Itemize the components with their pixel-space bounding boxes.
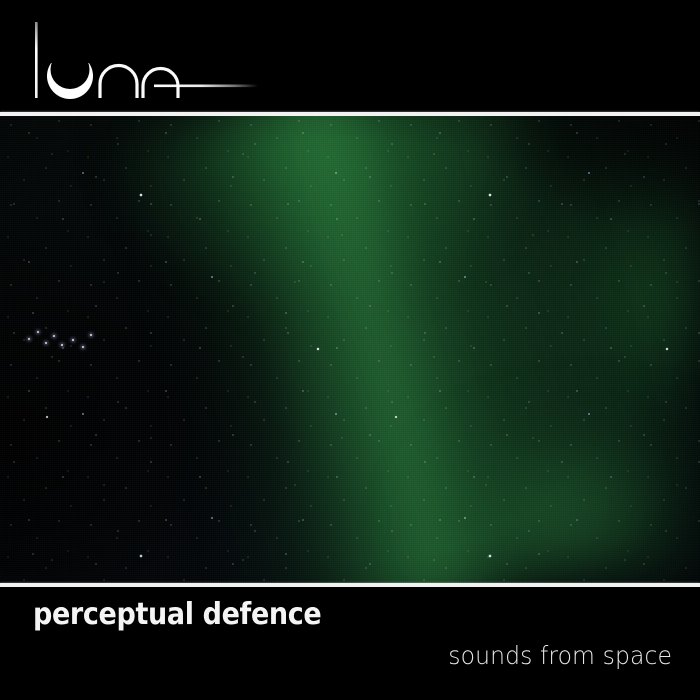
header-band: luna: [0, 0, 700, 112]
album-cover: luna perceptual defen: [0, 0, 700, 700]
aurora-starfield-photo: [0, 116, 700, 583]
album-title: perceptual defence: [33, 600, 321, 630]
luna-logo-icon: [28, 14, 268, 100]
luna-logo[interactable]: luna: [28, 14, 268, 100]
vignette-overlay: [0, 116, 700, 583]
album-subtitle: sounds from space: [448, 643, 672, 668]
footer-band: perceptual defence sounds from space: [0, 587, 700, 700]
